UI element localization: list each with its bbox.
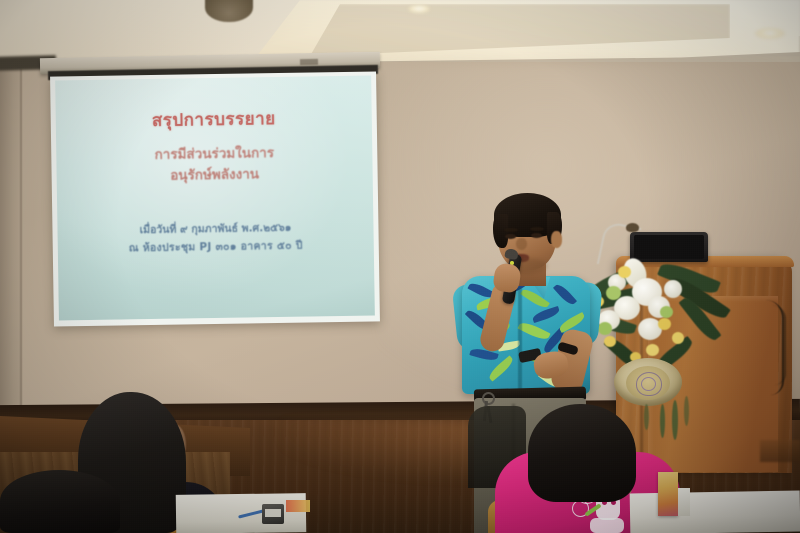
presenter-brow-right xyxy=(530,227,544,231)
audience-table xyxy=(630,491,800,533)
projection-screen: สรุปการบรรยาย การมีส่วนร่วมในการ อนุรักษ… xyxy=(55,76,375,321)
podium-base-shadow xyxy=(760,440,800,462)
audience-member-hair xyxy=(528,404,636,502)
wall-corner-line xyxy=(20,62,22,410)
recessed-downlight-icon xyxy=(408,5,430,13)
paper-item xyxy=(678,488,690,516)
presenter-eye-right xyxy=(531,233,542,238)
carton xyxy=(658,472,678,516)
paper-strip xyxy=(286,500,310,512)
trailing-greenery xyxy=(644,404,649,430)
presenter-brow-left xyxy=(504,228,518,232)
presenter-ear xyxy=(551,231,562,248)
presenter-eye-left xyxy=(505,234,516,239)
emblem-pattern-inner xyxy=(641,377,656,391)
wall-corner xyxy=(0,62,22,414)
podium-cable xyxy=(772,305,786,385)
recessed-downlight-icon xyxy=(755,28,785,39)
trailing-greenery xyxy=(672,400,678,440)
presenter-nose xyxy=(516,238,527,250)
shirt-button-placket xyxy=(518,288,522,392)
trailing-greenery xyxy=(684,396,689,426)
seminar-photograph: สรุปการบรรยาย การมีส่วนร่วมในการ อนุรักษ… xyxy=(0,0,800,533)
audience-member-hair xyxy=(0,470,120,533)
screen-brand-label xyxy=(300,59,318,65)
screen-shading xyxy=(55,76,375,321)
trailing-greenery xyxy=(660,404,665,438)
small-box-label xyxy=(265,509,281,517)
